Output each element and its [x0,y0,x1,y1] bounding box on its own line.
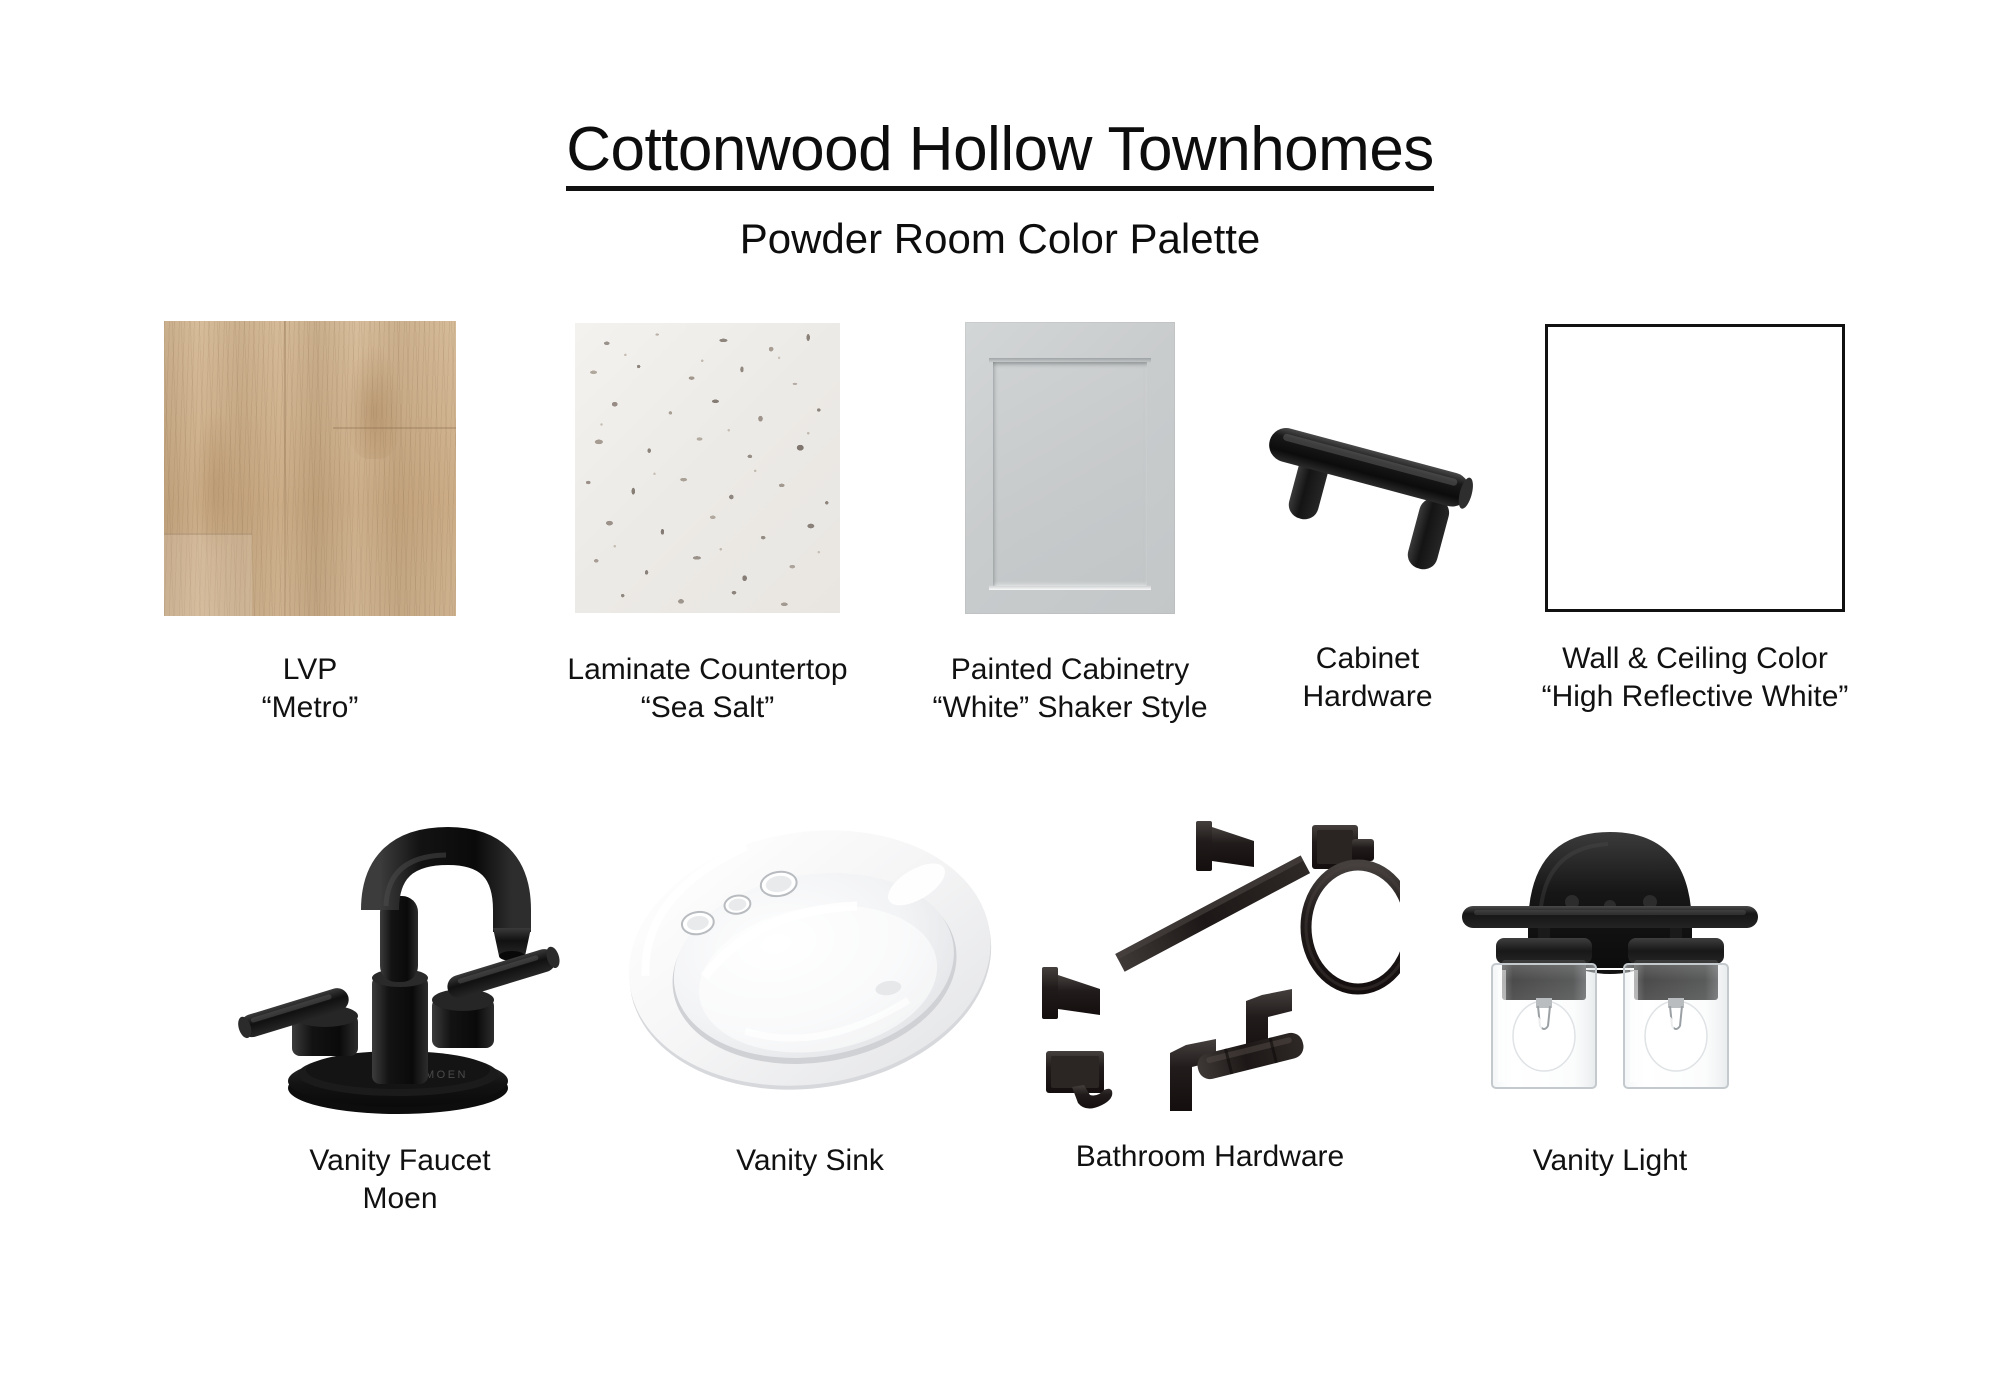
vanity-light-container [1430,800,1790,1120]
vanity-sink-caption: Vanity Sink [736,1142,884,1180]
lvp-swatch-container [164,318,456,618]
faucet-right-handle [432,945,562,1048]
fixtures-row: MOEN [0,800,2000,1218]
bar-pull-right-post [1404,495,1452,572]
light-lamp-left [1492,928,1596,1088]
vanity-light-image [1430,810,1790,1110]
faucet-left-handle [236,985,358,1056]
palette-item-countertop: Laminate Countertop “Sea Salt” [510,318,905,727]
cabinetry-caption: Painted Cabinetry “White” Shaker Style [932,651,1207,727]
bathroom-hardware-container [1020,800,1400,1120]
sink-body [615,810,1005,1110]
vanity-sink-container [615,800,1005,1120]
materials-row: LVP “Metro” Laminate Countertop “Sea Sal… [0,318,2000,727]
countertop-caption: Laminate Countertop “Sea Salt” [567,651,847,727]
vanity-sink-image [615,810,1005,1110]
vanity-light-caption: Vanity Light [1533,1142,1688,1180]
cabinet-bar-pull-image [1248,338,1488,598]
palette-item-bathroom-hardware: Bathroom Hardware [1010,800,1410,1176]
door-bevel-bottom [989,585,1151,590]
light-lamp-right [1624,928,1728,1088]
plank-seam-vertical [284,321,286,616]
bathroom-hardware-caption: Bathroom Hardware [1076,1138,1344,1176]
laminate-countertop-swatch [575,323,840,613]
light-crossbar [1462,906,1758,928]
plank-highlight [164,533,252,616]
page-title: Cottonwood Hollow Townhomes [566,0,1434,191]
vanity-faucet-caption: Vanity Faucet Moen [309,1142,490,1218]
board-header: Cottonwood Hollow Townhomes Powder Room … [0,0,2000,263]
robe-hook [1046,1051,1112,1109]
lvp-caption: LVP “Metro” [262,651,359,727]
toilet-paper-holder [1170,989,1306,1111]
door-recessed-panel [993,362,1147,586]
cabinet-door-container [965,318,1175,618]
palette-item-lvp: LVP “Metro” [110,318,510,727]
palette-item-cabinet-hardware: Cabinet Hardware [1235,318,1500,716]
palette-item-vanity-sink: Vanity Sink [610,800,1010,1180]
bathroom-hardware-set-image [1020,805,1400,1115]
wood-grain-knot [345,344,403,459]
wall-color-container [1545,318,1845,618]
countertop-swatch-container [575,318,840,618]
wall-color-caption: Wall & Ceiling Color “High Reflective Wh… [1542,640,1849,716]
plank-seam-lower [164,533,252,535]
vanity-faucet-container: MOEN [220,800,580,1120]
towel-bar [1042,821,1310,1019]
palette-item-vanity-faucet: MOEN [190,800,610,1218]
palette-item-cabinetry: Painted Cabinetry “White” Shaker Style [905,318,1235,727]
cabinet-hardware-caption: Cabinet Hardware [1302,640,1432,716]
shaker-cabinet-door-swatch [965,322,1175,614]
faucet-brand-mark: MOEN [425,1069,468,1081]
cabinet-pull-container [1248,318,1488,618]
lvp-wood-swatch [164,321,456,616]
palette-item-wall-color: Wall & Ceiling Color “High Reflective Wh… [1500,318,1890,716]
page-subtitle: Powder Room Color Palette [0,191,2000,263]
palette-item-vanity-light: Vanity Light [1410,800,1810,1180]
wall-color-chip [1545,324,1845,612]
towel-ring [1306,825,1400,989]
vanity-faucet-image: MOEN [220,800,580,1120]
